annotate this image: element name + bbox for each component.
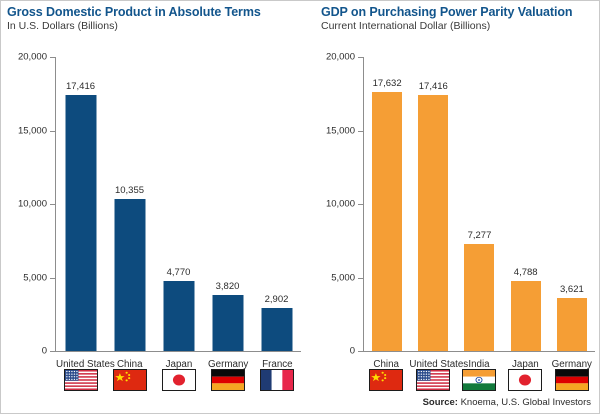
bar-japan[interactable]: [511, 281, 541, 351]
bar-france[interactable]: [261, 308, 292, 351]
bar-value-label: 2,902: [265, 294, 289, 305]
category-labels-left: United StatesChinaJapanGermanyFrance: [56, 354, 302, 368]
y-axis-tick: [50, 57, 55, 58]
bar-value-label: 7,277: [468, 230, 492, 241]
chart-figure: Gross Domestic Product in Absolute Terms…: [0, 0, 600, 414]
flag-united-states-icon: [416, 369, 450, 391]
source-text: Knoema, U.S. Global Investors: [461, 397, 591, 408]
bar-china[interactable]: [114, 199, 145, 351]
y-axis-tick-label: 0: [42, 346, 47, 357]
y-axis-tick: [50, 204, 55, 205]
y-axis-tick: [358, 278, 363, 279]
bar-slot: 4,770: [154, 57, 203, 351]
flag-slot: [56, 369, 105, 391]
bar-slot: 7,277: [456, 57, 502, 351]
bar-india[interactable]: [464, 244, 494, 351]
bar-value-label: 4,770: [167, 267, 191, 278]
bar-slot: 10,355: [105, 57, 154, 351]
chart-panel-gdp-absolute: Gross Domestic Product in Absolute Terms…: [1, 1, 309, 414]
bar-germany[interactable]: [557, 298, 587, 351]
chart-subtitle-right: Current International Dollar (Billions): [321, 20, 490, 32]
y-axis-tick: [358, 57, 363, 58]
chart-subtitle-left: In U.S. Dollars (Billions): [7, 20, 118, 32]
flag-slot: [549, 369, 595, 391]
bar-slot: 17,632: [364, 57, 410, 351]
y-axis-tick-label: 10,000: [18, 199, 47, 210]
y-axis-tick-label: 0: [350, 346, 355, 357]
y-axis-tick-label: 10,000: [326, 199, 355, 210]
flag-row-left: [56, 369, 302, 393]
bar-value-label: 4,788: [514, 267, 538, 278]
flag-germany-icon: [555, 369, 589, 391]
bar-value-label: 17,416: [66, 81, 95, 92]
y-axis-tick-label: 20,000: [18, 52, 47, 63]
bar-slot: 4,788: [503, 57, 549, 351]
category-labels-right: ChinaUnited StatesIndiaJapanGermany: [363, 354, 595, 368]
bar-united-states[interactable]: [65, 95, 96, 351]
bar-group-right: 17,63217,4167,2774,7883,621: [364, 57, 595, 351]
y-axis-tick: [50, 351, 55, 352]
bar-value-label: 3,621: [560, 284, 584, 295]
chart-title-left: Gross Domestic Product in Absolute Terms: [7, 5, 261, 19]
y-axis-tick-label: 15,000: [326, 125, 355, 136]
y-axis-tick-label: 15,000: [18, 125, 47, 136]
x-axis-line-left: [55, 351, 301, 352]
flag-germany-icon: [211, 369, 245, 391]
bar-value-label: 17,632: [373, 78, 402, 89]
source-label: Source:: [423, 397, 458, 408]
bar-slot: 17,416: [410, 57, 456, 351]
y-axis-tick: [50, 278, 55, 279]
flag-slot: [456, 369, 502, 391]
flag-india-icon: [462, 369, 496, 391]
chart-title-right: GDP on Purchasing Power Parity Valuation: [321, 5, 572, 19]
bar-slot: 17,416: [56, 57, 105, 351]
bar-slot: 3,820: [203, 57, 252, 351]
bar-slot: 3,621: [549, 57, 595, 351]
y-axis-tick-label: 5,000: [331, 272, 355, 283]
flag-slot: [363, 369, 409, 391]
flag-japan-icon: [508, 369, 542, 391]
bar-value-label: 17,416: [419, 81, 448, 92]
flag-row-right: [363, 369, 595, 393]
y-axis-tick-label: 20,000: [326, 52, 355, 63]
flag-france-icon: [260, 369, 294, 391]
source-attribution: Source: Knoema, U.S. Global Investors: [423, 397, 591, 408]
flag-slot: [105, 369, 154, 391]
bar-value-label: 10,355: [115, 185, 144, 196]
chart-panel-gdp-ppp: GDP on Purchasing Power Parity Valuation…: [309, 1, 600, 414]
y-axis-tick: [358, 351, 363, 352]
flag-slot: [154, 369, 203, 391]
flag-slot: [502, 369, 548, 391]
flag-slot: [204, 369, 253, 391]
bar-group-left: 17,41610,3554,7703,8202,902: [56, 57, 301, 351]
y-axis-tick: [358, 131, 363, 132]
bar-value-label: 3,820: [216, 281, 240, 292]
flag-china-icon: [369, 369, 403, 391]
bar-slot: 2,902: [252, 57, 301, 351]
plot-area-right: 05,00010,00015,00020,000 17,63217,4167,2…: [363, 57, 595, 352]
flag-japan-icon: [162, 369, 196, 391]
x-axis-line-right: [363, 351, 595, 352]
bar-germany[interactable]: [212, 295, 243, 351]
flag-slot: [253, 369, 302, 391]
bar-japan[interactable]: [163, 281, 194, 351]
bar-china[interactable]: [372, 92, 402, 351]
plot-area-left: 05,00010,00015,00020,000 17,41610,3554,7…: [55, 57, 301, 352]
flag-united-states-icon: [64, 369, 98, 391]
y-axis-tick-label: 5,000: [23, 272, 47, 283]
y-axis-tick: [358, 204, 363, 205]
y-axis-tick: [50, 131, 55, 132]
flag-slot: [409, 369, 455, 391]
bar-united-states[interactable]: [418, 95, 448, 351]
flag-china-icon: [113, 369, 147, 391]
